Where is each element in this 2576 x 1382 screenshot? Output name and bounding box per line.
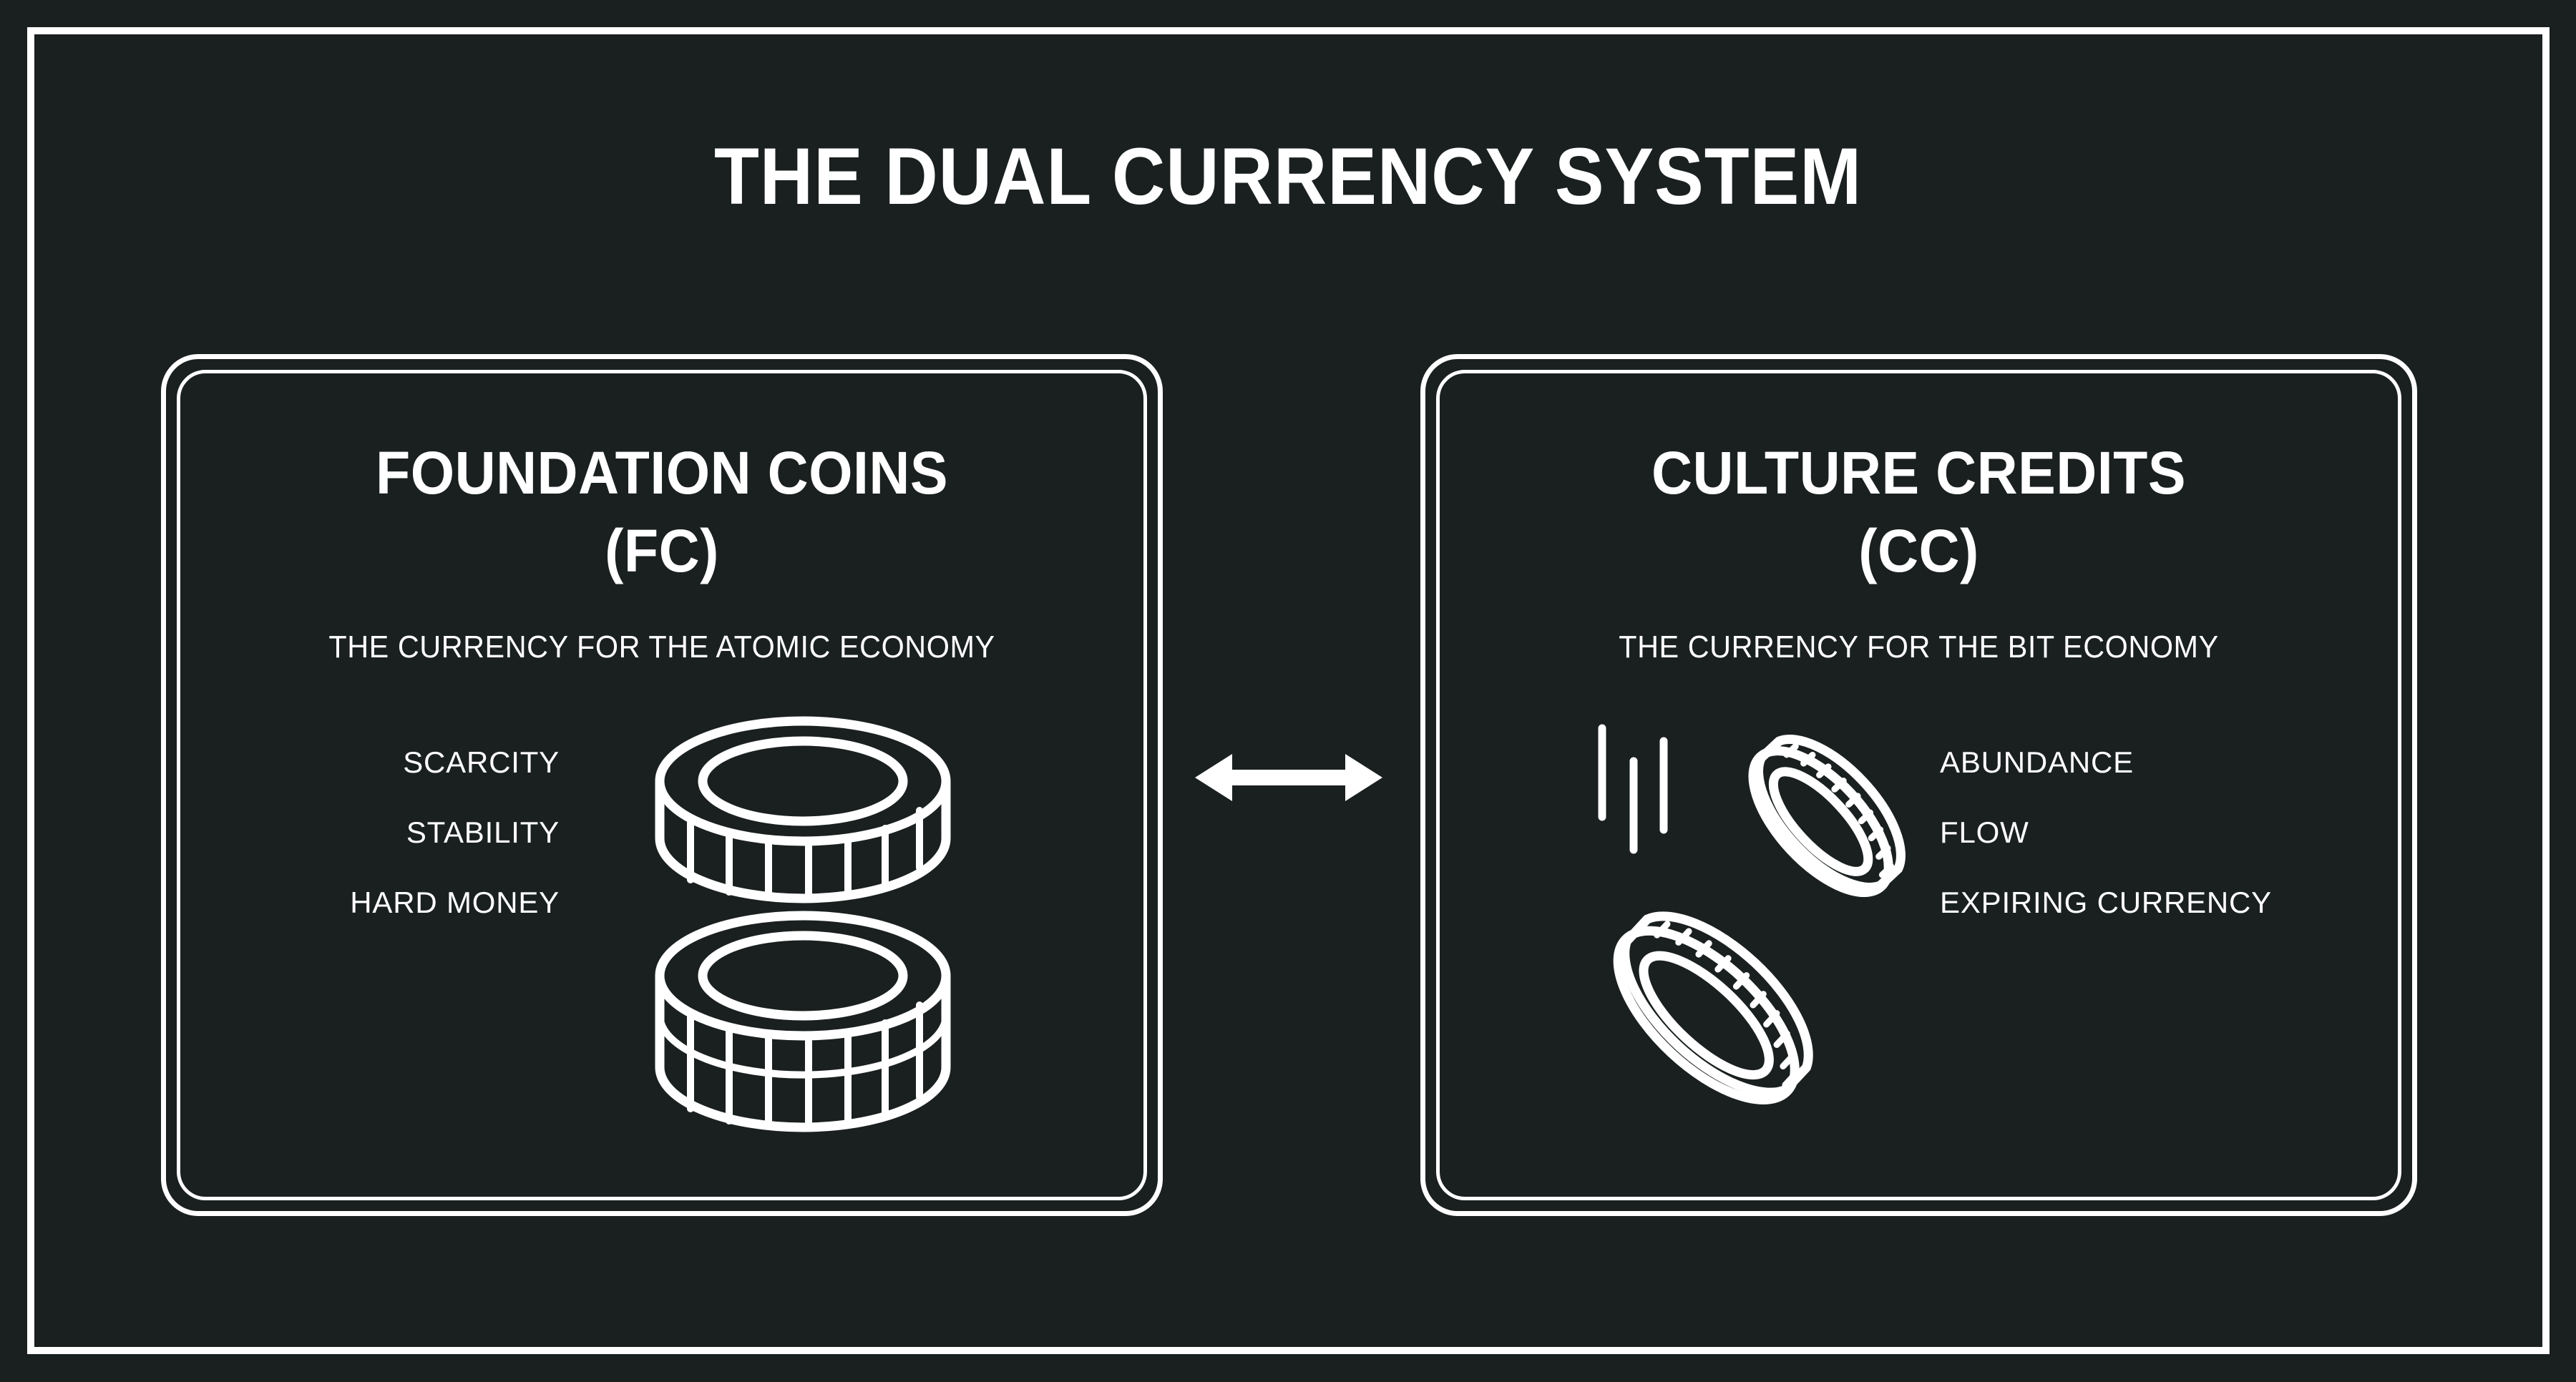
stacked-coins-icon: [638, 695, 967, 1139]
feature-scarcity: SCARCITY: [403, 745, 560, 780]
panel-title-foundation-coins: FOUNDATION COINS (FC): [196, 434, 1128, 590]
motion-lines: [1602, 728, 1664, 850]
feature-list-foundation-coins: SCARCITY STABILITY HARD MONEY: [166, 745, 560, 920]
page-title: THE DUAL CURRENCY SYSTEM: [103, 134, 2473, 219]
panel-subtitle-culture-credits: THE CURRENCY FOR THE BIT ECONOMY: [1455, 629, 2382, 665]
panel-foundation-coins: FOUNDATION COINS (FC) THE CURRENCY FOR T…: [161, 354, 1163, 1216]
feature-hard-money: HARD MONEY: [350, 886, 560, 920]
feature-list-culture-credits: ABUNDANCE FLOW EXPIRING CURRENCY: [1940, 745, 2412, 920]
panel-body: CULTURE CREDITS (CC) THE CURRENCY FOR TH…: [1425, 359, 2412, 1211]
feature-expiring-currency: EXPIRING CURRENCY: [1940, 886, 2272, 920]
double-headed-arrow-icon: [1195, 748, 1382, 807]
infographic-canvas: THE DUAL CURRENCY SYSTEM FOUNDATION COIN…: [0, 0, 2576, 1382]
panel-title-culture-credits: CULTURE CREDITS (CC): [1455, 434, 2382, 590]
panel-culture-credits: CULTURE CREDITS (CC) THE CURRENCY FOR TH…: [1420, 354, 2417, 1216]
feature-stability: STABILITY: [406, 815, 560, 850]
feature-abundance: ABUNDANCE: [1940, 745, 2134, 780]
panel-subtitle-foundation-coins: THE CURRENCY FOR THE ATOMIC ECONOMY: [196, 629, 1128, 665]
panel-body: FOUNDATION COINS (FC) THE CURRENCY FOR T…: [166, 359, 1158, 1211]
falling-coins-icon: [1551, 695, 1923, 1153]
feature-flow: FLOW: [1940, 815, 2029, 850]
